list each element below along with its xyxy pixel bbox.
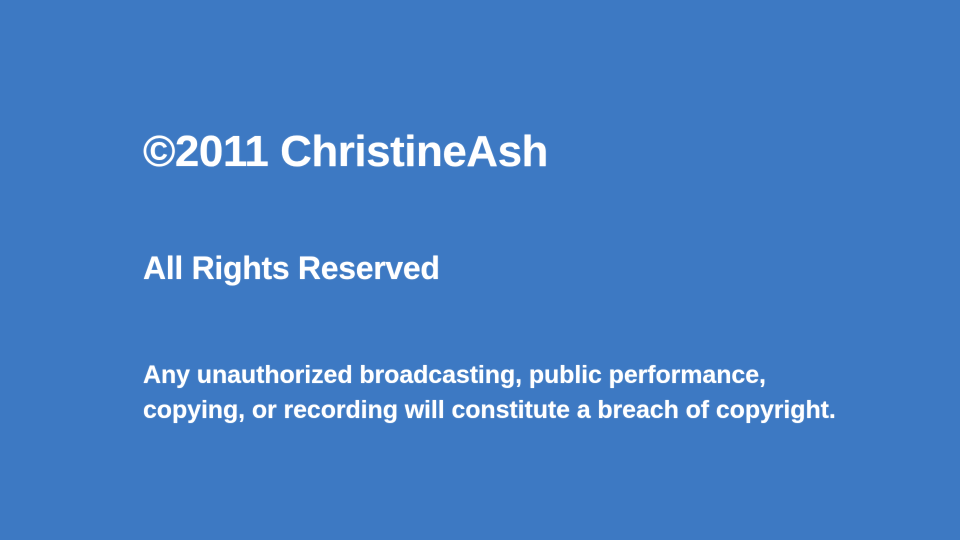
usage-notice: Any unauthorized broadcasting, public pe… [143, 358, 836, 428]
copyright-title-card: ©2011 ChristineAsh All Rights Reserved A… [0, 0, 960, 540]
copyright-headline: ©2011 ChristineAsh [143, 126, 548, 178]
usage-notice-line-2: copying, or recording will constitute a … [143, 393, 836, 428]
rights-statement: All Rights Reserved [143, 249, 440, 287]
usage-notice-line-1: Any unauthorized broadcasting, public pe… [143, 358, 836, 393]
